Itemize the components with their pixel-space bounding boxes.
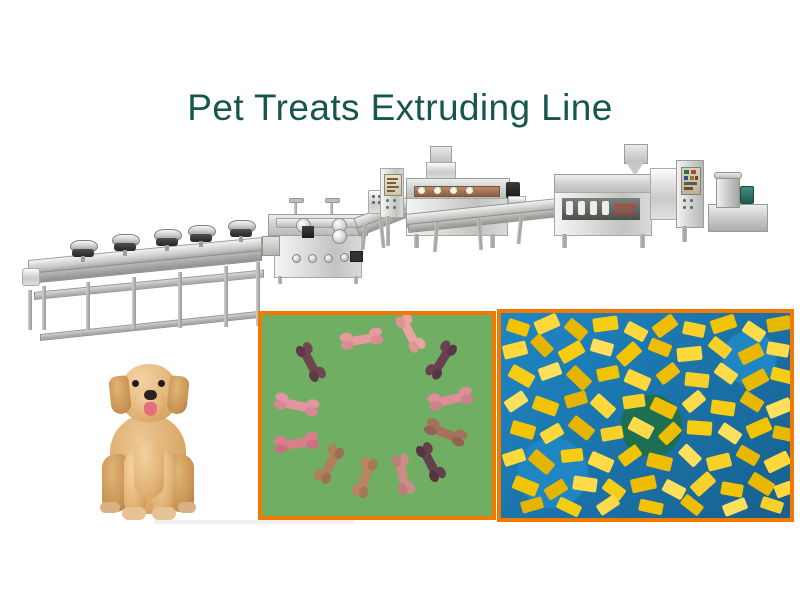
screw-element xyxy=(602,201,609,215)
bone-treats-photo[interactable] xyxy=(258,311,496,520)
conveyor-leg xyxy=(42,286,46,330)
forming-mast-cap xyxy=(325,198,340,203)
screw-element xyxy=(578,201,585,215)
bone-treat xyxy=(412,440,448,484)
bone-treat xyxy=(392,311,428,355)
bone-treat xyxy=(339,325,386,352)
dog-eye xyxy=(132,380,139,387)
die-roller xyxy=(466,187,473,194)
forming-mast-cap xyxy=(289,198,304,203)
conveyor-leg xyxy=(132,277,136,329)
panel-display xyxy=(384,174,402,196)
mixer-lid xyxy=(714,172,742,179)
kibble-pile xyxy=(501,313,790,518)
bone-treat xyxy=(273,430,321,456)
machine-foot xyxy=(562,234,567,248)
bone-treat xyxy=(349,454,381,500)
cooling-fan-icon xyxy=(228,220,254,240)
dog-nose xyxy=(144,390,157,400)
control-cabinet xyxy=(676,160,704,228)
bone-treat xyxy=(426,384,475,413)
wiring xyxy=(614,204,636,207)
mixer-motor xyxy=(740,186,754,204)
drying-conveyor xyxy=(406,214,556,254)
control-knob xyxy=(340,253,349,262)
machine-foot xyxy=(354,276,358,284)
extruder-die-window xyxy=(414,186,500,197)
dog-paw xyxy=(100,502,120,513)
machine-foot xyxy=(640,234,645,248)
dog-ear xyxy=(108,375,132,415)
indicator-dot xyxy=(372,201,375,204)
conveyor-leg xyxy=(86,282,90,330)
cooling-conveyor xyxy=(28,246,278,356)
kibble-photo[interactable] xyxy=(497,309,794,522)
screw-element xyxy=(566,201,573,215)
cabinet-display xyxy=(681,167,701,195)
indicator-dot xyxy=(372,195,375,198)
forming-roller xyxy=(332,229,347,244)
mixer-vessel xyxy=(716,176,740,208)
control-knob xyxy=(324,254,333,263)
control-screen xyxy=(350,251,363,262)
cooling-fan-icon xyxy=(154,229,180,249)
die-roller xyxy=(418,187,425,194)
mixer-tank xyxy=(708,204,768,232)
forming-cutter xyxy=(302,226,314,238)
dog-eye xyxy=(158,380,165,387)
cooling-fan-icon xyxy=(112,234,138,254)
conveyor-leg xyxy=(178,272,182,328)
forming-machine-cabinet xyxy=(274,232,362,278)
cooling-fan-icon xyxy=(70,240,96,260)
dog-paw xyxy=(178,502,196,513)
cooling-fan-icon xyxy=(188,225,214,245)
poster-canvas: Pet Treats Extruding Line xyxy=(0,0,800,600)
die-roller xyxy=(450,187,457,194)
extruder2-barrel xyxy=(554,174,654,194)
conveyor-leg xyxy=(28,290,32,330)
control-knob xyxy=(292,254,301,263)
dog-tongue xyxy=(144,402,157,416)
extruder2-window xyxy=(562,198,640,220)
extruder-control-panel xyxy=(380,168,404,218)
forming-machine-tray xyxy=(276,218,360,228)
conveyor-drive-head xyxy=(22,268,40,286)
bone-treats-scene xyxy=(262,315,492,516)
extruder2-gearbox xyxy=(650,168,678,220)
wiring xyxy=(614,210,634,213)
page-title: Pet Treats Extruding Line xyxy=(0,88,800,128)
die-roller xyxy=(434,187,441,194)
extruder2-hopper xyxy=(626,162,644,176)
extruder-secondary xyxy=(548,146,763,264)
forming-motor xyxy=(262,236,280,256)
dog-paw xyxy=(152,507,176,520)
bone-treat xyxy=(423,339,460,383)
photo-shadow xyxy=(154,520,354,524)
bone-treat xyxy=(292,340,328,384)
conveyor-leg xyxy=(224,266,228,327)
dog-ear xyxy=(166,375,190,415)
dog-chest xyxy=(134,440,164,498)
extruder2-hopper-box xyxy=(624,144,648,164)
bone-treat xyxy=(389,452,417,497)
bone-treat xyxy=(272,390,321,419)
machine-foot xyxy=(386,216,390,246)
machine-foot xyxy=(682,226,687,242)
machine-foot xyxy=(278,276,282,284)
dog-paw xyxy=(122,507,146,520)
control-knob xyxy=(308,254,317,263)
screw-element xyxy=(590,201,597,215)
mascot-dog xyxy=(96,362,200,534)
